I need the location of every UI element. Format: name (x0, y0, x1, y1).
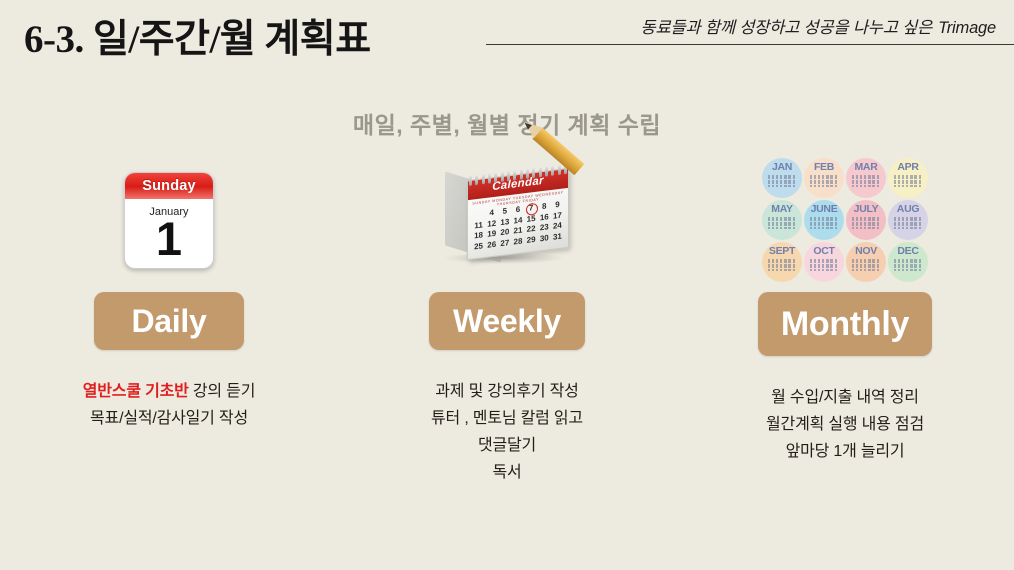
desk-day: 28 (511, 236, 524, 248)
note-line: 목표/실적/감사일기 작성 (83, 405, 255, 432)
desk-day: 31 (551, 231, 564, 243)
month-mini-day (852, 269, 854, 271)
spiral-ring (545, 165, 548, 176)
month-mini-day (910, 269, 912, 271)
month-mini-day (822, 269, 824, 271)
month-mini-day (856, 269, 858, 271)
month-circle: JUNE (804, 200, 844, 240)
note-text: 월 수입/지출 내역 정리 (771, 389, 919, 406)
month-mini-day (793, 227, 795, 229)
month-mini-day (856, 185, 858, 187)
desk-day: 30 (538, 232, 551, 244)
month-mini-day (776, 185, 778, 187)
month-mini-day (906, 269, 908, 271)
month-mini-day (776, 269, 778, 271)
note-line: 월간계획 실행 내용 점검 (766, 411, 924, 438)
spiral-ring (513, 169, 516, 180)
month-mini-day (906, 227, 908, 229)
month-mini-day (768, 227, 770, 229)
note-line: 튜터 , 멘토님 칼럼 읽고 (431, 405, 583, 432)
tagline-text: 동료들과 함께 성장하고 성공을 나누고 싶은 (641, 19, 933, 37)
month-mini-day (822, 227, 824, 229)
spiral-ring (475, 174, 478, 185)
month-mini-day (818, 269, 820, 271)
brand-name: Trimage (932, 19, 996, 37)
monthly-notes: 월 수입/지출 내역 정리 월간계획 실행 내용 점검 앞마당 1개 늘리기 (766, 384, 924, 465)
month-mini-day (784, 185, 786, 187)
month-mini-day (860, 185, 862, 187)
month-mini-day (826, 269, 828, 271)
month-mini-day (914, 227, 916, 229)
month-mini-day (872, 269, 874, 271)
month-mini-grid (852, 217, 880, 229)
month-name: FEB (814, 162, 834, 173)
spiral-ring (558, 164, 561, 175)
month-name: MAR (854, 162, 877, 173)
month-mini-day (910, 227, 912, 229)
month-mini-day (860, 227, 862, 229)
month-mini-day (772, 269, 774, 271)
weekly-icon-slot: Calendar SUNDAY MONDAY TUESDAY WEDNESDAY… (437, 160, 577, 280)
month-mini-day (814, 185, 816, 187)
month-mini-day (864, 185, 866, 187)
calendar-day-number: 1 (125, 216, 213, 262)
note-text: 튜터 , 멘토님 칼럼 읽고 (431, 410, 583, 427)
month-mini-day (852, 185, 854, 187)
month-circle: FEB (804, 158, 844, 198)
plan-columns: Sunday January 1 Daily 열반스쿨 기초반 강의 듣기 목표… (0, 160, 1014, 486)
note-text: 월간계획 실행 내용 점검 (766, 416, 924, 433)
note-text: 댓글달기 (478, 437, 536, 454)
note-line: 과제 및 강의후기 작성 (431, 378, 583, 405)
month-mini-day (919, 227, 921, 229)
month-mini-day (898, 185, 900, 187)
spiral-ring (520, 168, 523, 179)
month-mini-day (872, 185, 874, 187)
desk-day: 29 (525, 234, 538, 246)
column-daily: Sunday January 1 Daily 열반스쿨 기초반 강의 듣기 목표… (0, 160, 338, 486)
month-mini-day (772, 185, 774, 187)
note-line: 열반스쿨 기초반 강의 듣기 (83, 378, 255, 405)
note-text: 독서 (492, 464, 521, 481)
month-mini-day (835, 269, 837, 271)
month-mini-day (877, 185, 879, 187)
note-line: 월 수입/지출 내역 정리 (766, 384, 924, 411)
month-circle: SEPT (762, 242, 802, 282)
month-mini-day (860, 269, 862, 271)
month-name: APR (897, 162, 918, 173)
month-mini-grid (894, 175, 922, 187)
month-mini-day (852, 227, 854, 229)
month-mini-grid (768, 217, 796, 229)
month-mini-day (830, 269, 832, 271)
spiral-ring (482, 173, 485, 184)
month-mini-day (906, 185, 908, 187)
month-mini-day (780, 185, 782, 187)
month-name: OCT (813, 246, 834, 257)
month-circle: MAR (846, 158, 886, 198)
month-name: SEPT (769, 246, 795, 257)
month-mini-day (856, 227, 858, 229)
note-line: 독서 (431, 459, 583, 486)
spiral-ring (532, 167, 535, 178)
month-mini-day (780, 269, 782, 271)
month-mini-day (784, 269, 786, 271)
month-mini-day (830, 227, 832, 229)
month-mini-day (877, 269, 879, 271)
month-circle: DEC (888, 242, 928, 282)
month-mini-day (822, 185, 824, 187)
month-mini-day (784, 227, 786, 229)
month-name: NOV (855, 246, 877, 257)
month-mini-grid (810, 259, 838, 271)
note-text: 과제 및 강의후기 작성 (435, 383, 578, 400)
month-mini-grid (894, 217, 922, 229)
month-circle: OCT (804, 242, 844, 282)
month-mini-day (793, 185, 795, 187)
month-mini-day (894, 185, 896, 187)
month-mini-grid (768, 259, 796, 271)
month-mini-grid (852, 175, 880, 187)
month-circle: JULY (846, 200, 886, 240)
daily-icon-slot: Sunday January 1 (124, 160, 214, 280)
header-divider (486, 44, 1014, 45)
month-mini-day (894, 269, 896, 271)
month-mini-day (868, 227, 870, 229)
calendar-weekday: Sunday (125, 173, 213, 199)
month-circle: APR (888, 158, 928, 198)
month-mini-day (814, 227, 816, 229)
weekly-notes: 과제 및 강의후기 작성 튜터 , 멘토님 칼럼 읽고 댓글달기 독서 (431, 378, 583, 486)
month-mini-day (768, 185, 770, 187)
month-name: JAN (772, 162, 792, 173)
month-mini-day (872, 227, 874, 229)
month-mini-day (898, 269, 900, 271)
day-calendar-icon: Sunday January 1 (124, 172, 214, 269)
monthly-icon-slot: JANFEBMARAPRMAYJUNEJULYAUGSEPTOCTNOVDEC (762, 160, 928, 280)
month-mini-day (826, 227, 828, 229)
subtitle: 매일, 주별, 월별 정기 계획 수립 (0, 106, 1014, 140)
month-mini-day (919, 185, 921, 187)
month-mini-day (793, 269, 795, 271)
spiral-ring (507, 170, 510, 181)
month-circle: JAN (762, 158, 802, 198)
spiral-ring (539, 166, 542, 177)
month-name: JUNE (811, 204, 838, 215)
month-mini-day (826, 185, 828, 187)
weekly-label-button[interactable]: Weekly (429, 292, 585, 350)
month-mini-grid (894, 259, 922, 271)
note-text: 목표/실적/감사일기 작성 (90, 410, 248, 427)
daily-label-button[interactable]: Daily (94, 292, 244, 350)
month-circle: AUG (888, 200, 928, 240)
month-mini-day (902, 269, 904, 271)
month-mini-day (910, 185, 912, 187)
month-name: JULY (854, 204, 879, 215)
month-mini-day (894, 227, 896, 229)
month-mini-day (868, 185, 870, 187)
monthly-label-button[interactable]: Monthly (758, 292, 932, 356)
daily-notes: 열반스쿨 기초반 강의 듣기 목표/실적/감사일기 작성 (83, 378, 255, 432)
month-name: AUG (897, 204, 919, 215)
desk-calendar-pencil-icon: Calendar SUNDAY MONDAY TUESDAY WEDNESDAY… (437, 168, 577, 272)
note-line: 댓글달기 (431, 432, 583, 459)
month-mini-day (788, 227, 790, 229)
month-mini-day (830, 185, 832, 187)
note-highlight: 열반스쿨 기초반 (83, 383, 189, 400)
month-circle: NOV (846, 242, 886, 282)
month-mini-day (835, 227, 837, 229)
month-name: DEC (897, 246, 918, 257)
month-mini-day (919, 269, 921, 271)
spiral-ring (469, 175, 472, 186)
column-monthly: JANFEBMARAPRMAYJUNEJULYAUGSEPTOCTNOVDEC … (676, 160, 1014, 486)
month-mini-day (810, 185, 812, 187)
month-mini-day (877, 227, 879, 229)
column-weekly: Calendar SUNDAY MONDAY TUESDAY WEDNESDAY… (338, 160, 676, 486)
month-mini-day (814, 269, 816, 271)
spiral-ring (526, 168, 529, 179)
month-mini-day (864, 269, 866, 271)
month-mini-day (898, 227, 900, 229)
month-mini-day (776, 227, 778, 229)
month-name: MAY (771, 204, 792, 215)
tagline: 동료들과 함께 성장하고 성공을 나누고 싶은Trimage (641, 14, 996, 38)
month-mini-day (772, 227, 774, 229)
month-mini-day (835, 185, 837, 187)
month-mini-day (780, 227, 782, 229)
month-mini-grid (768, 175, 796, 187)
twelve-months-icon: JANFEBMARAPRMAYJUNEJULYAUGSEPTOCTNOVDEC (762, 158, 928, 282)
month-mini-grid (810, 217, 838, 229)
month-mini-grid (852, 259, 880, 271)
month-mini-grid (810, 175, 838, 187)
desk-day: 26 (485, 239, 498, 251)
month-mini-day (810, 227, 812, 229)
desk-day: 27 (498, 237, 511, 249)
month-mini-day (788, 269, 790, 271)
month-mini-day (914, 185, 916, 187)
month-mini-day (818, 227, 820, 229)
month-mini-day (788, 185, 790, 187)
note-text: 강의 듣기 (189, 383, 256, 400)
spiral-ring (494, 172, 497, 183)
month-mini-day (914, 269, 916, 271)
slide-header: 6-3. 일/주간/월 계획표 동료들과 함께 성장하고 성공을 나누고 싶은T… (0, 0, 1014, 62)
desk-day: 25 (472, 241, 485, 253)
note-line: 앞마당 1개 늘리기 (766, 438, 924, 465)
month-mini-day (818, 185, 820, 187)
month-circle: MAY (762, 200, 802, 240)
month-mini-day (902, 185, 904, 187)
spiral-ring (501, 171, 504, 182)
month-mini-day (810, 269, 812, 271)
spiral-ring (551, 165, 554, 176)
month-mini-day (864, 227, 866, 229)
note-text: 앞마당 1개 늘리기 (786, 443, 905, 460)
spiral-ring (488, 172, 491, 183)
month-mini-day (902, 227, 904, 229)
page-title: 6-3. 일/주간/월 계획표 (24, 8, 371, 64)
month-mini-day (768, 269, 770, 271)
month-mini-day (868, 269, 870, 271)
